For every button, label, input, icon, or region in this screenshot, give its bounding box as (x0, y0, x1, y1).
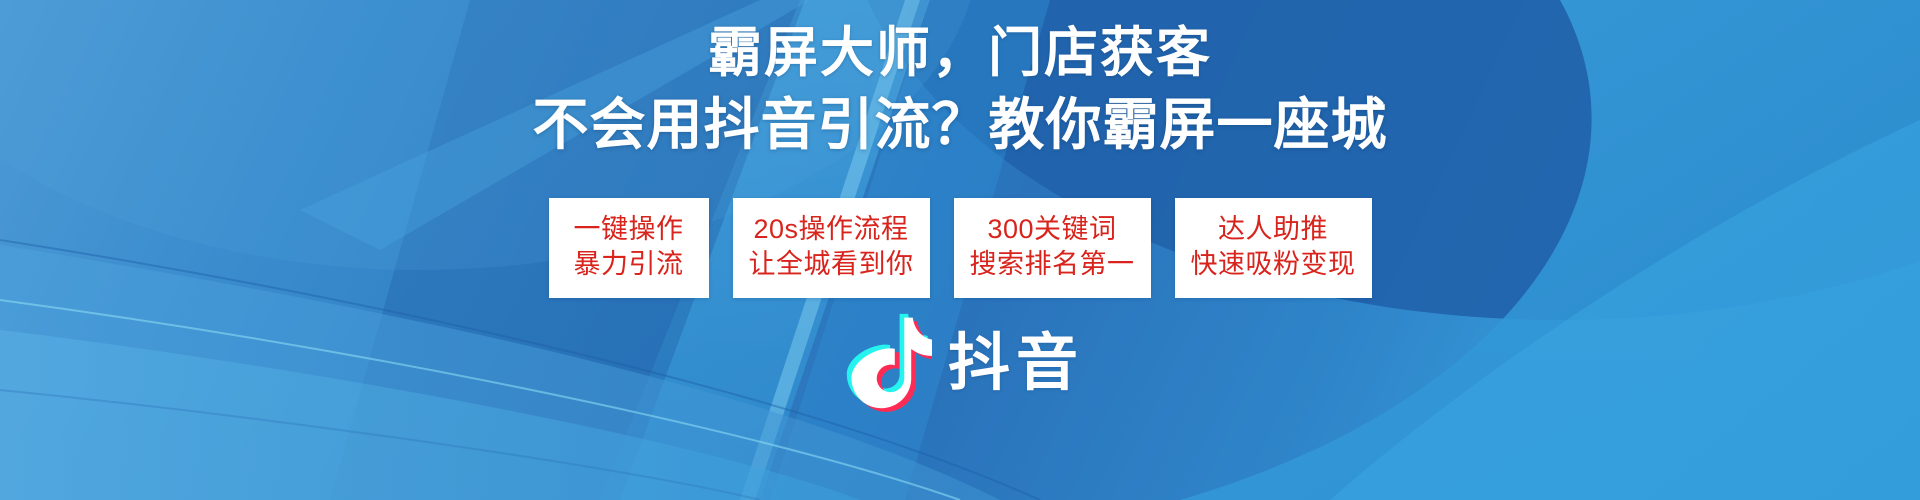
feature-box-2-line-1: 20s操作流程 (749, 212, 914, 247)
feature-box-2[interactable]: 20s操作流程 让全城看到你 (733, 198, 930, 298)
promo-banner: 霸屏大师，门店获客 不会用抖音引流？教你霸屏一座城 一键操作 暴力引流 20s操… (0, 0, 1920, 500)
douyin-logo-lockup[interactable]: 抖音 (0, 312, 1920, 416)
feature-box-1-line-1: 一键操作 (565, 212, 693, 247)
douyin-music-note-icon (836, 312, 932, 416)
feature-box-1[interactable]: 一键操作 暴力引流 (549, 198, 709, 298)
feature-box-3-line-2: 搜索排名第一 (970, 247, 1135, 282)
feature-box-2-line-2: 让全城看到你 (749, 247, 914, 282)
douyin-wordmark: 抖音 (948, 331, 1084, 397)
feature-box-3-line-1: 300关键词 (970, 212, 1135, 247)
feature-box-4-line-2: 快速吸粉变现 (1191, 247, 1356, 282)
feature-box-4[interactable]: 达人助推 快速吸粉变现 (1175, 198, 1372, 298)
feature-box-4-line-1: 达人助推 (1191, 212, 1356, 247)
feature-box-1-line-2: 暴力引流 (565, 247, 693, 282)
feature-box-row: 一键操作 暴力引流 20s操作流程 让全城看到你 300关键词 搜索排名第一 达… (0, 198, 1920, 298)
feature-box-3[interactable]: 300关键词 搜索排名第一 (954, 198, 1151, 298)
